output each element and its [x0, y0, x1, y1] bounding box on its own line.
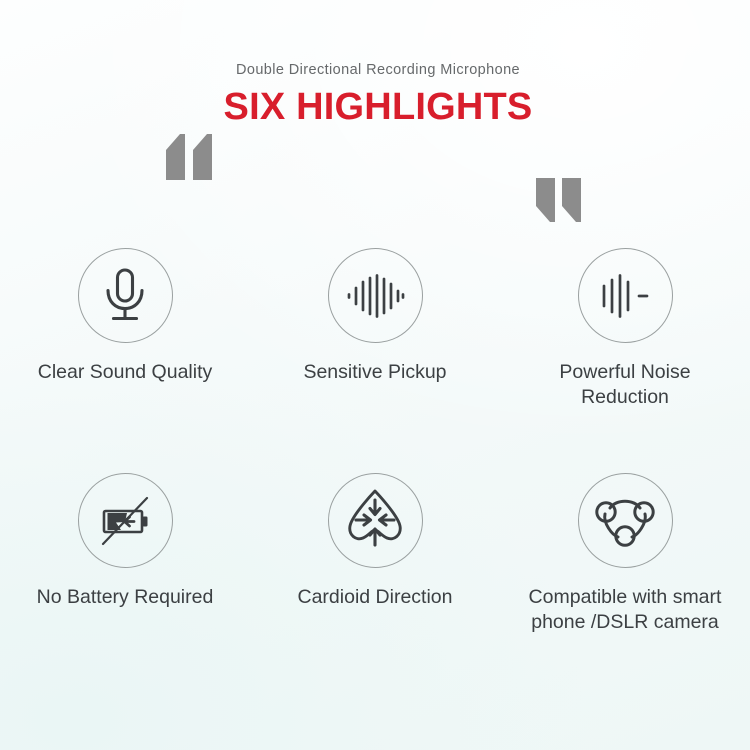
- header-text-block: Double Directional Recording Microphone …: [0, 62, 750, 126]
- quote-close-icon: [533, 178, 585, 227]
- quote-open-icon: [160, 134, 216, 185]
- feature-label: No Battery Required: [37, 585, 214, 610]
- feature-item-no-battery: No Battery Required: [0, 473, 250, 635]
- sound-waveform-icon: [328, 248, 423, 343]
- feature-item-clear-sound-quality: Clear Sound Quality: [0, 248, 250, 410]
- microphone-icon: [78, 248, 173, 343]
- feature-label: Powerful Noise Reduction: [559, 360, 690, 410]
- feature-row-bottom: No Battery Required: [0, 473, 750, 635]
- feature-label: Compatible with smart phone /DSLR camera: [529, 585, 722, 635]
- feature-item-noise-reduction: Powerful Noise Reduction: [500, 248, 750, 410]
- no-battery-icon: [78, 473, 173, 568]
- feature-item-sensitive-pickup: Sensitive Pickup: [250, 248, 500, 410]
- feature-item-device-compatibility: Compatible with smart phone /DSLR camera: [500, 473, 750, 635]
- header-subtitle: Double Directional Recording Microphone: [0, 62, 750, 79]
- noise-reduction-icon: [578, 248, 673, 343]
- feature-row-top: Clear Sound Quality: [0, 248, 750, 410]
- page-title: SIX HIGHLIGHTS: [0, 88, 750, 126]
- cardioid-pattern-icon: [328, 473, 423, 568]
- feature-label: Clear Sound Quality: [38, 360, 213, 385]
- feature-label: Sensitive Pickup: [303, 360, 446, 385]
- infographic-poster: Double Directional Recording Microphone …: [0, 0, 750, 750]
- feature-item-cardioid-direction: Cardioid Direction: [250, 473, 500, 635]
- feature-label: Cardioid Direction: [298, 585, 453, 610]
- device-compatibility-icon: [578, 473, 673, 568]
- header: Double Directional Recording Microphone …: [0, 62, 750, 172]
- feature-grid: Clear Sound Quality: [0, 248, 750, 635]
